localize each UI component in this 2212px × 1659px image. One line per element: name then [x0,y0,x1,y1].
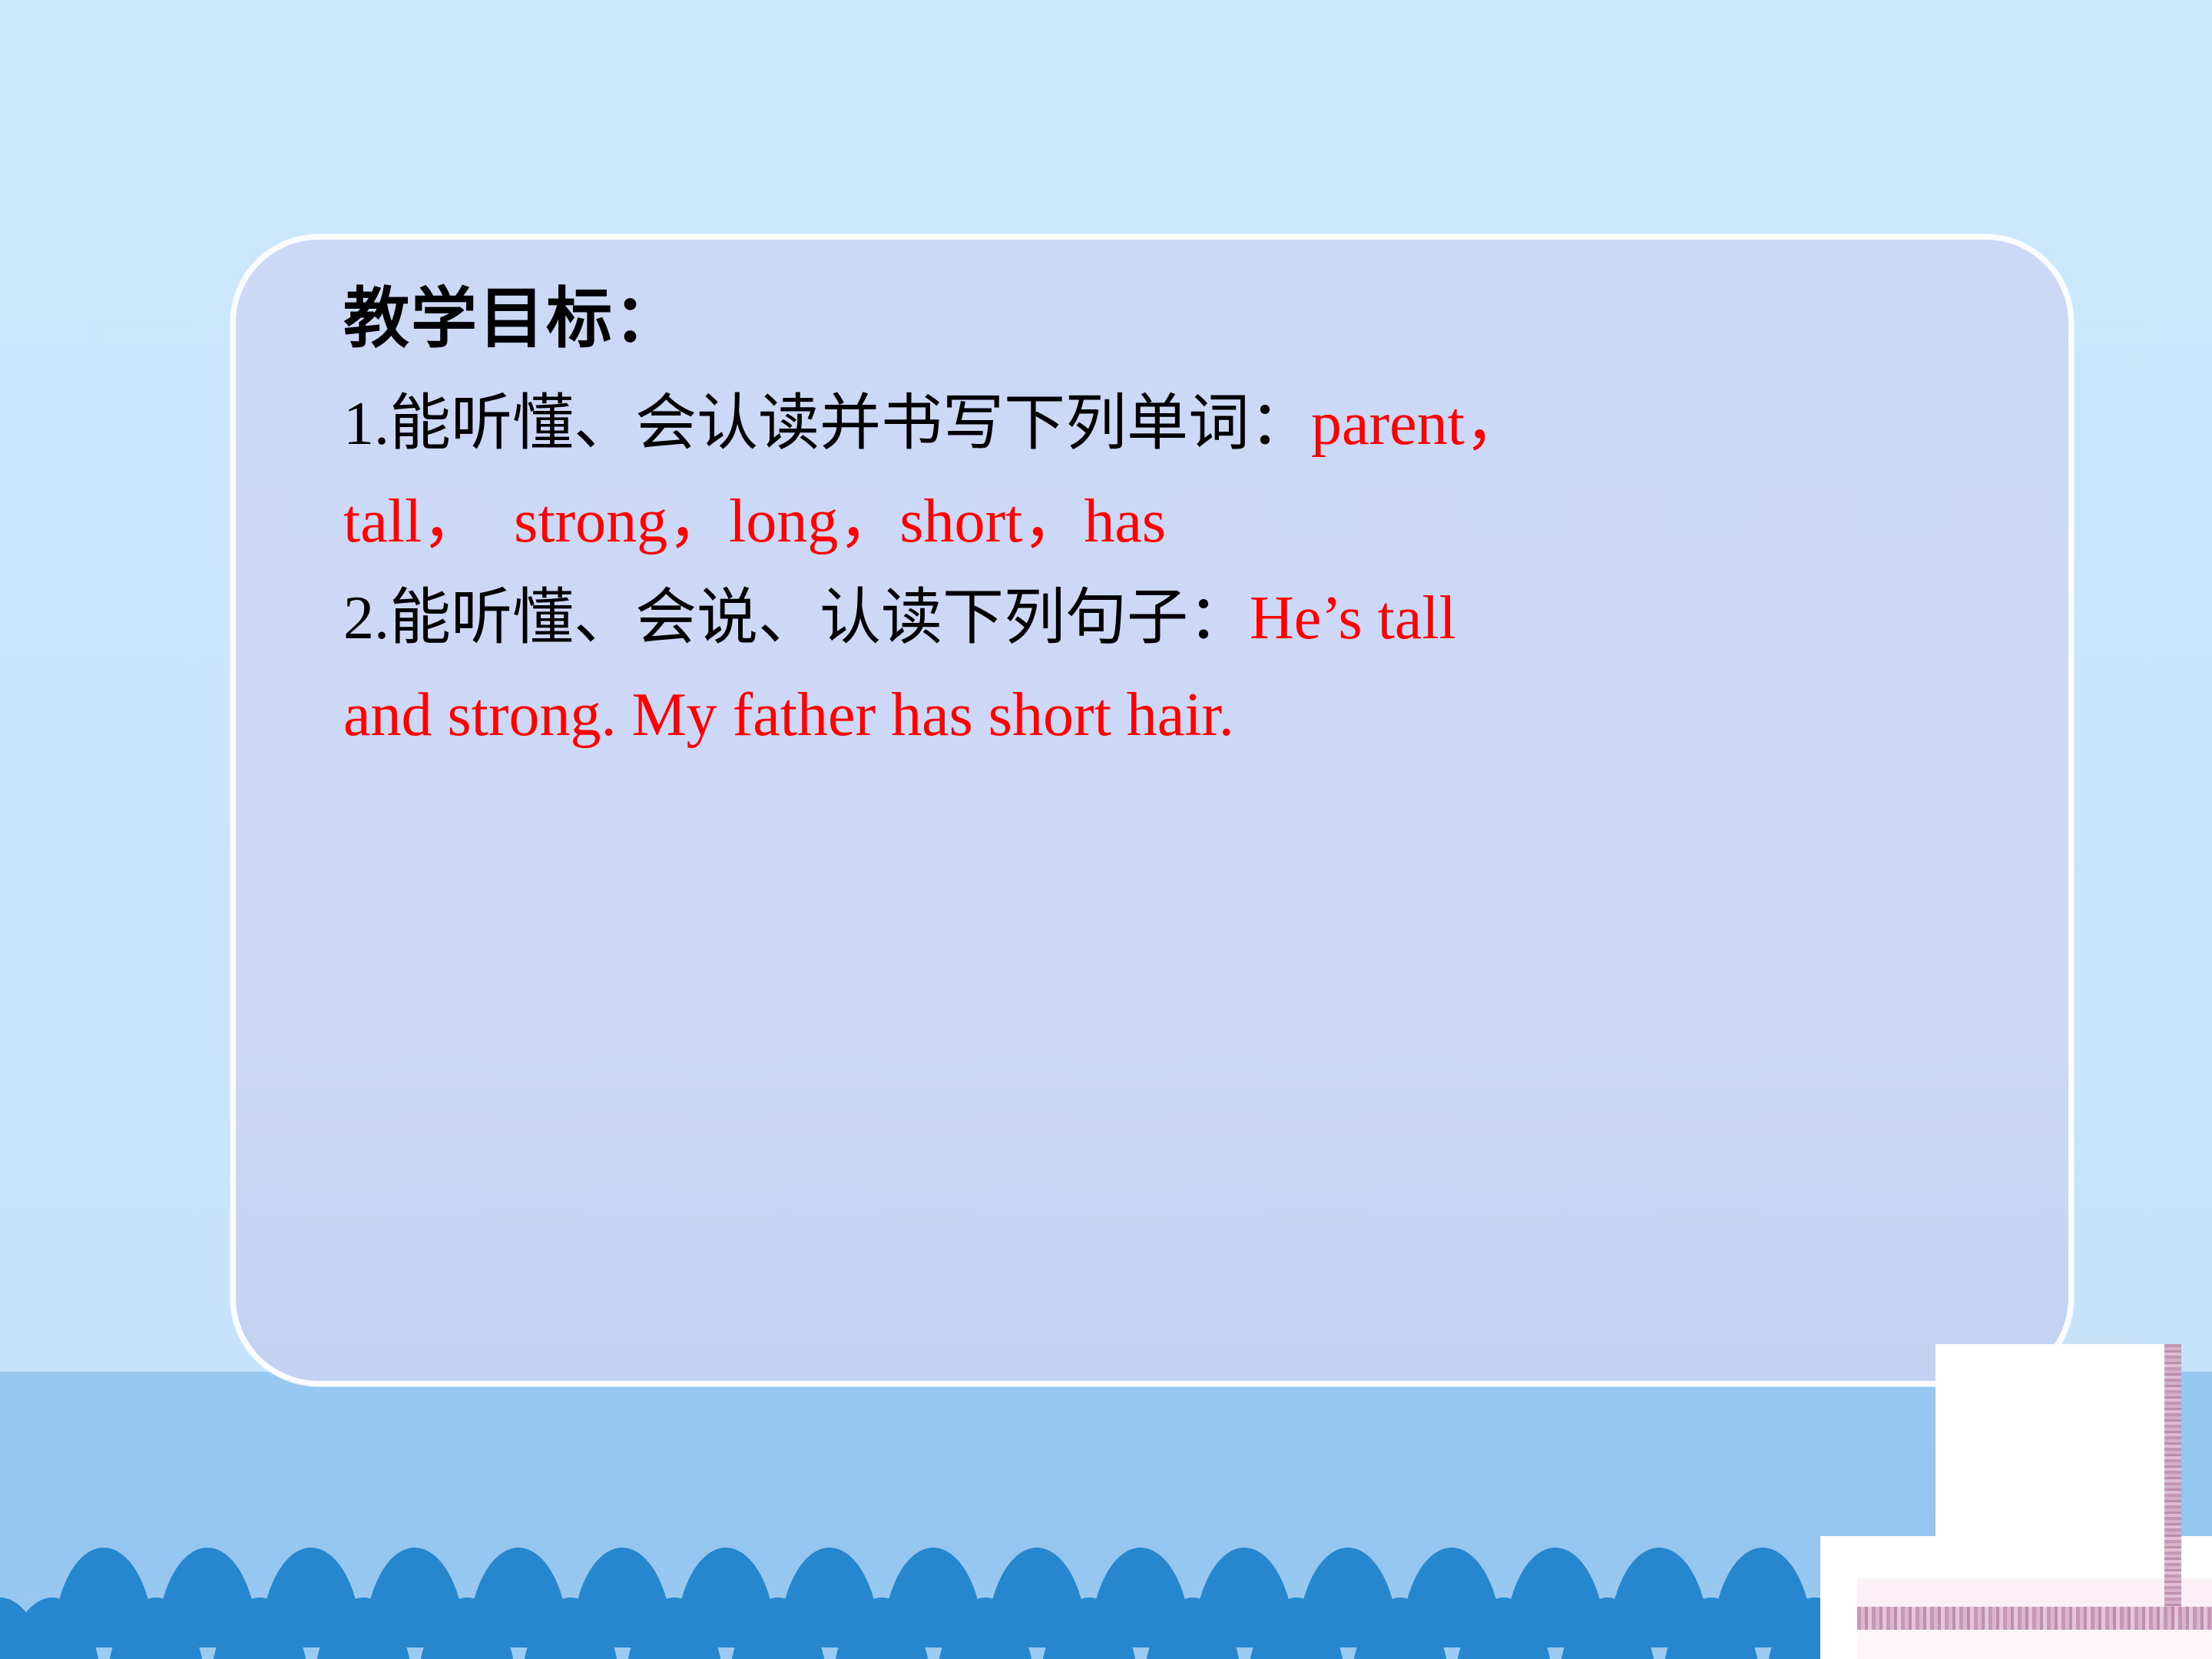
objective-2-sentence-part1: He’s tall [1250,584,1456,652]
objective-line-2: tall， strong，long，short，has [343,473,2033,570]
objective-line-3: 2.能听懂、会说、认读下列句子：He’s tall [343,570,2033,667]
objective-line-4: and strong. My father has short hair. [343,667,2033,763]
corner-overlay-edge-vertical [2164,1344,2181,1617]
objective-2-sentence-part2: and strong. My father has short hair. [343,681,1234,749]
objective-1-word-list: tall， strong，long，short，has [343,488,1166,555]
corner-overlay-tint-bottom [1857,1630,2212,1659]
corner-overlay-edge-horizontal [1857,1607,2212,1630]
objectives-panel: 教学目标： 1.能听懂、会认读并书写下列单词：parent， tall， str… [230,234,2074,1386]
objective-2-chinese: 2.能听懂、会说、认读下列句子： [343,584,1250,652]
page-title: 教学目标： [343,282,2033,356]
objective-1-chinese: 1.能听懂、会认读并书写下列单词： [343,390,1311,458]
objective-line-1: 1.能听懂、会认读并书写下列单词：parent， [343,376,2033,472]
objective-1-word-parent: parent， [1311,390,1526,458]
corner-overlay-tint [1857,1578,2212,1608]
objectives-list: 1.能听懂、会认读并书写下列单词：parent， tall， strong，lo… [343,376,2033,764]
slide-canvas: 教学目标： 1.能听懂、会认读并书写下列单词：parent， tall， str… [0,0,2212,1659]
objectives-content: 教学目标： 1.能听懂、会认读并书写下列单词：parent， tall， str… [343,282,2033,764]
